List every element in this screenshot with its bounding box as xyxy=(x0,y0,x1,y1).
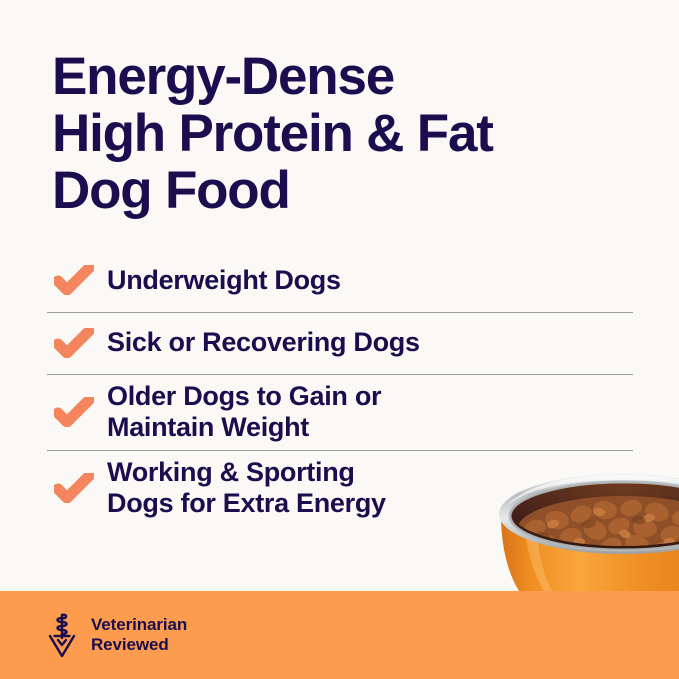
check-icon xyxy=(47,473,107,503)
check-icon xyxy=(47,397,107,427)
list-item-label: Underweight Dogs xyxy=(107,265,341,296)
list-item-label: Older Dogs to Gain or Maintain Weight xyxy=(107,381,381,443)
headline-line-1: Energy-Dense xyxy=(52,48,652,105)
benefit-text-line-1: Underweight Dogs xyxy=(107,265,341,295)
headline-line-3: Dog Food xyxy=(52,162,652,219)
vet-label-line-2: Reviewed xyxy=(91,635,187,655)
veterinarian-reviewed-label: Veterinarian Reviewed xyxy=(91,615,187,655)
veterinary-caduceus-icon xyxy=(45,612,79,658)
list-item-label: Sick or Recovering Dogs xyxy=(107,327,420,358)
benefit-text-line-2: Dogs for Extra Energy xyxy=(107,488,386,519)
list-item-label: Working & Sporting Dogs for Extra Energy xyxy=(107,457,386,519)
benefit-text-line-1: Older Dogs to Gain or xyxy=(107,381,381,412)
list-item: Working & Sporting Dogs for Extra Energy xyxy=(47,450,633,526)
product-infographic: Energy-Dense High Protein & Fat Dog Food… xyxy=(0,0,679,679)
benefit-text-line-2: Maintain Weight xyxy=(107,412,381,443)
footer-bar: Veterinarian Reviewed xyxy=(0,591,679,679)
benefit-text-line-1: Sick or Recovering Dogs xyxy=(107,327,420,357)
list-item: Sick or Recovering Dogs xyxy=(47,312,633,374)
list-item: Underweight Dogs xyxy=(47,250,633,312)
list-item: Older Dogs to Gain or Maintain Weight xyxy=(47,374,633,450)
headline-line-2: High Protein & Fat xyxy=(52,105,652,162)
page-title: Energy-Dense High Protein & Fat Dog Food xyxy=(52,48,652,219)
check-icon xyxy=(47,265,107,295)
vet-label-line-1: Veterinarian xyxy=(91,615,187,635)
benefit-text-line-1: Working & Sporting xyxy=(107,457,386,488)
benefits-list: Underweight Dogs Sick or Recovering Dogs… xyxy=(47,250,633,526)
check-icon xyxy=(47,328,107,358)
